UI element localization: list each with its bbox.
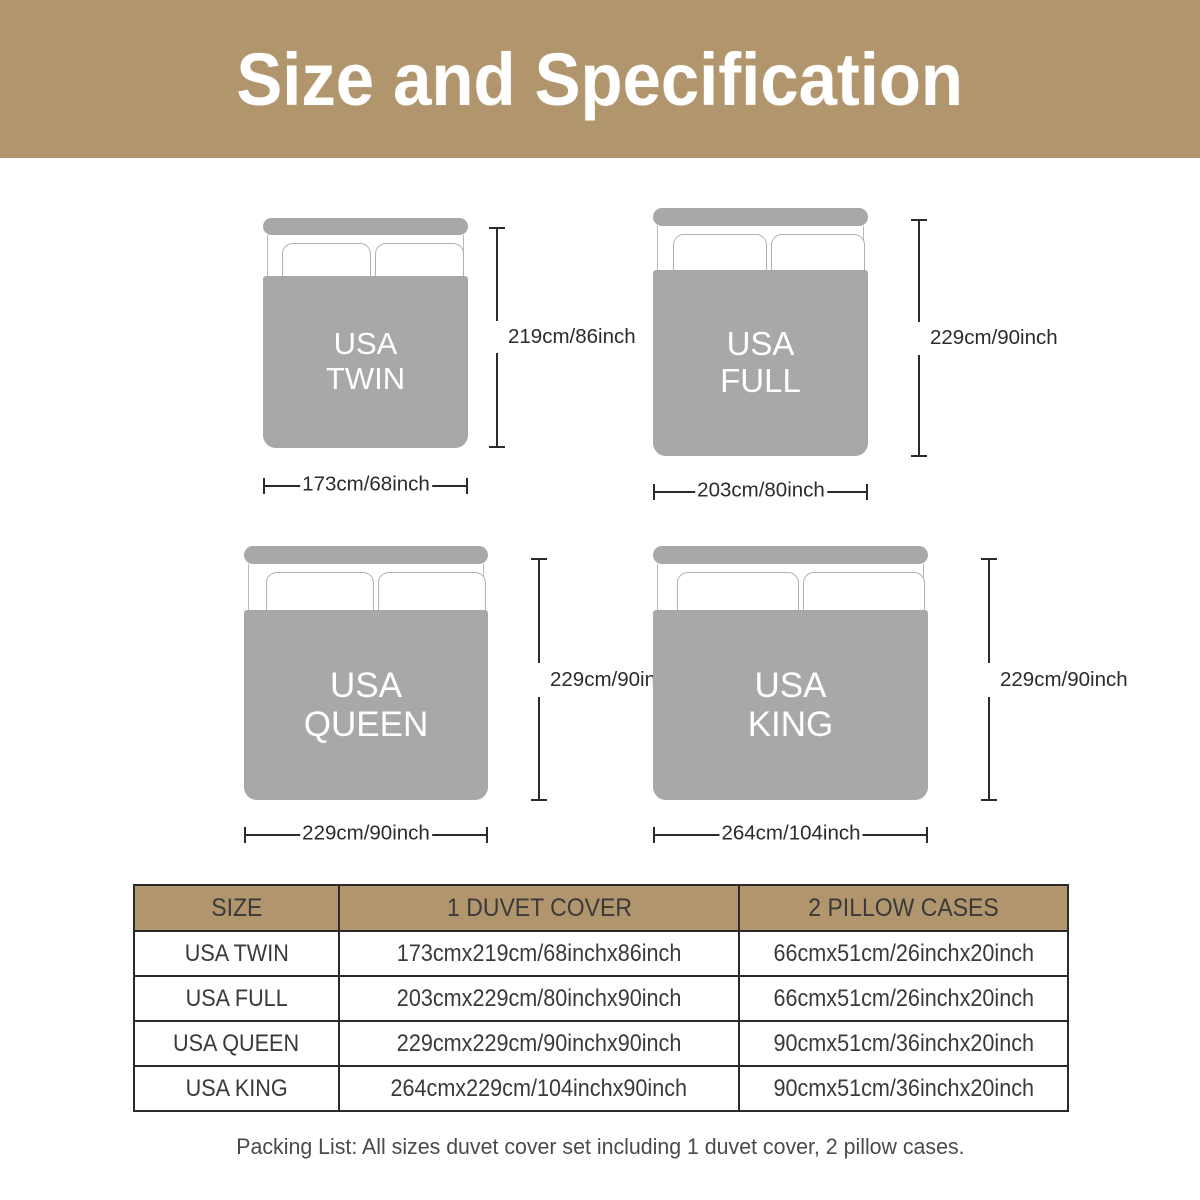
dimension-line-lower [496, 353, 498, 448]
dimension-label-width: 203cm/80inch [695, 479, 827, 503]
dimension-label-height: 229cm/90inch [930, 326, 1058, 350]
dimension-label-width: 229cm/90inch [300, 822, 432, 846]
bed-diagram-usa-king: USA KING 229cm/90inch 264cm/104inch [653, 546, 1083, 856]
table-row: USA QUEEN 229cmx229cm/90inchx90inch 90cm… [134, 1021, 1068, 1066]
table-header-duvet-cover: 1 DUVET COVER [339, 885, 739, 931]
dimension-line-lower [918, 355, 920, 457]
dimension-label-height: 219cm/86inch [508, 325, 636, 349]
duvet-body: USA QUEEN [244, 610, 488, 800]
bed-diagram-usa-twin: USA TWIN 219cm/86inch 173cm/68inch [263, 218, 593, 518]
dimension-label-width: 264cm/104inch [719, 822, 862, 846]
dimension-cap-bottom [911, 455, 927, 457]
duvet-body: USA TWIN [263, 276, 468, 448]
table-cell-duvet-cover: 173cmx219cm/68inchx86inch [339, 931, 739, 976]
packing-list-note-text: Packing List: All sizes duvet cover set … [236, 1134, 964, 1160]
bed-label-line1: USA [748, 666, 834, 705]
table-header-row: SIZE 1 DUVET COVER 2 PILLOW CASES [134, 885, 1068, 931]
bed-label-line1: USA [326, 327, 405, 362]
table-cell-pillow-cases: 90cmx51cm/36inchx20inch [739, 1066, 1068, 1111]
table-cell-duvet-cover: 264cmx229cm/104inchx90inch [339, 1066, 739, 1111]
dimension-label-width: 173cm/68inch [300, 473, 432, 497]
dimension-line-upper [496, 227, 498, 321]
table-cell-pillow-cases: 66cmx51cm/26inchx20inch [739, 976, 1068, 1021]
bed-label-line1: USA [720, 326, 801, 363]
table-cell-duvet-cover: 203cmx229cm/80inchx90inch [339, 976, 739, 1021]
bed-label-line2: TWIN [326, 362, 405, 397]
header-banner: Size and Specification [0, 0, 1200, 158]
bed-label-usa-full: USA FULL [720, 326, 801, 400]
table-header-pillow-cases: 2 PILLOW CASES [739, 885, 1068, 931]
table-cell-size: USA FULL [134, 976, 339, 1021]
page-title: Size and Specification [237, 37, 964, 122]
bed-graphic-usa-full: USA FULL [653, 208, 868, 493]
dimension-line-upper [988, 558, 990, 663]
bed-label-line1: USA [304, 666, 428, 705]
table-row: USA KING 264cmx229cm/104inchx90inch 90cm… [134, 1066, 1068, 1111]
bed-diagram-usa-full: USA FULL 229cm/90inch 203cm/80inch [653, 208, 1053, 518]
specification-table: SIZE 1 DUVET COVER 2 PILLOW CASES USA TW… [133, 884, 1069, 1112]
dimension-line-upper [918, 219, 920, 322]
bed-graphic-usa-twin: USA TWIN [263, 218, 468, 488]
table-cell-size: USA TWIN [134, 931, 339, 976]
bed-label-line2: QUEEN [304, 705, 428, 744]
bed-graphic-usa-queen: USA QUEEN [244, 546, 488, 836]
table-cell-pillow-cases: 66cmx51cm/26inchx20inch [739, 931, 1068, 976]
table-cell-size: USA KING [134, 1066, 339, 1111]
bed-label-usa-queen: USA QUEEN [304, 666, 428, 744]
dimension-cap-right [486, 827, 488, 843]
table-header-size: SIZE [134, 885, 339, 931]
headboard-icon [263, 218, 468, 235]
dimension-cap-right [466, 478, 468, 494]
dimension-line-lower [538, 697, 540, 801]
headboard-icon [653, 208, 868, 226]
dimension-cap-bottom [981, 799, 997, 801]
dimension-line-lower [988, 697, 990, 801]
dimension-cap-bottom [531, 799, 547, 801]
dimension-cap-bottom [489, 446, 505, 448]
headboard-icon [244, 546, 488, 564]
bed-diagram-area: USA TWIN 219cm/86inch 173cm/68inch [0, 158, 1200, 870]
bed-diagram-usa-queen: USA QUEEN 229cm/90inch 229cm/90inch [244, 546, 644, 856]
dimension-cap-right [926, 827, 928, 843]
table-cell-pillow-cases: 90cmx51cm/36inchx20inch [739, 1021, 1068, 1066]
headboard-icon [653, 546, 928, 564]
duvet-body: USA KING [653, 610, 928, 800]
packing-list-note: Packing List: All sizes duvet cover set … [0, 1134, 1200, 1160]
table-header-pillow-cases-label: 2 PILLOW CASES [808, 894, 998, 923]
bed-label-line2: FULL [720, 363, 801, 400]
bed-graphic-usa-king: USA KING [653, 546, 928, 836]
duvet-body: USA FULL [653, 270, 868, 456]
table-header-duvet-cover-label: 1 DUVET COVER [447, 894, 632, 923]
dimension-line-upper [538, 558, 540, 663]
dimension-cap-right [866, 484, 868, 500]
bed-label-usa-king: USA KING [748, 666, 834, 744]
table-row: USA TWIN 173cmx219cm/68inchx86inch 66cmx… [134, 931, 1068, 976]
table-cell-duvet-cover: 229cmx229cm/90inchx90inch [339, 1021, 739, 1066]
dimension-label-height: 229cm/90inch [1000, 668, 1128, 692]
bed-label-usa-twin: USA TWIN [326, 327, 405, 396]
table-row: USA FULL 203cmx229cm/80inchx90inch 66cmx… [134, 976, 1068, 1021]
table-cell-size: USA QUEEN [134, 1021, 339, 1066]
bed-label-line2: KING [748, 705, 834, 744]
table-header-size-label: SIZE [211, 894, 262, 923]
